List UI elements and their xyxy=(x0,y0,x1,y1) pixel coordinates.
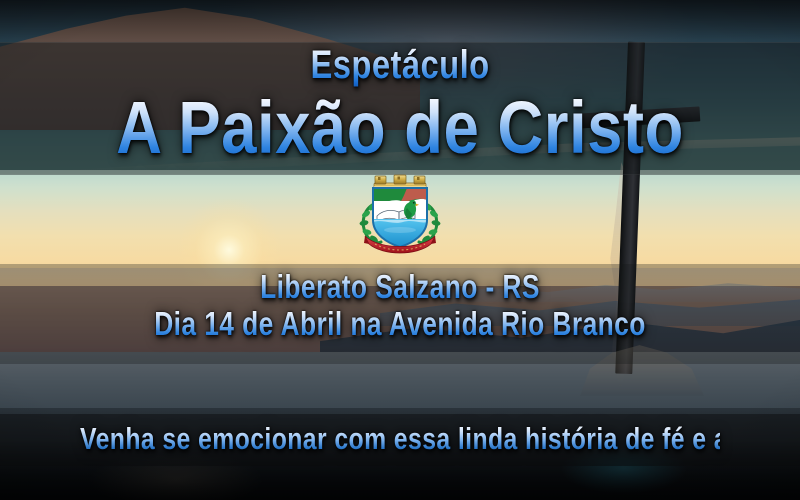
poster-title: A Paixão de Cristo xyxy=(56,88,744,168)
shield xyxy=(373,188,427,248)
poster-date-line: Dia 14 de Abril na Avenida Rio Branco xyxy=(80,305,720,343)
poster-kicker: Espetáculo xyxy=(72,42,728,88)
poster-city-line: Liberato Salzano - RS xyxy=(80,268,720,306)
event-poster: Espetáculo A Paixão de Cristo Liberato S… xyxy=(0,0,800,500)
coat-of-arms-emblem xyxy=(355,174,445,260)
poster-tagline: Venha se emocionar com essa linda histór… xyxy=(80,420,720,458)
